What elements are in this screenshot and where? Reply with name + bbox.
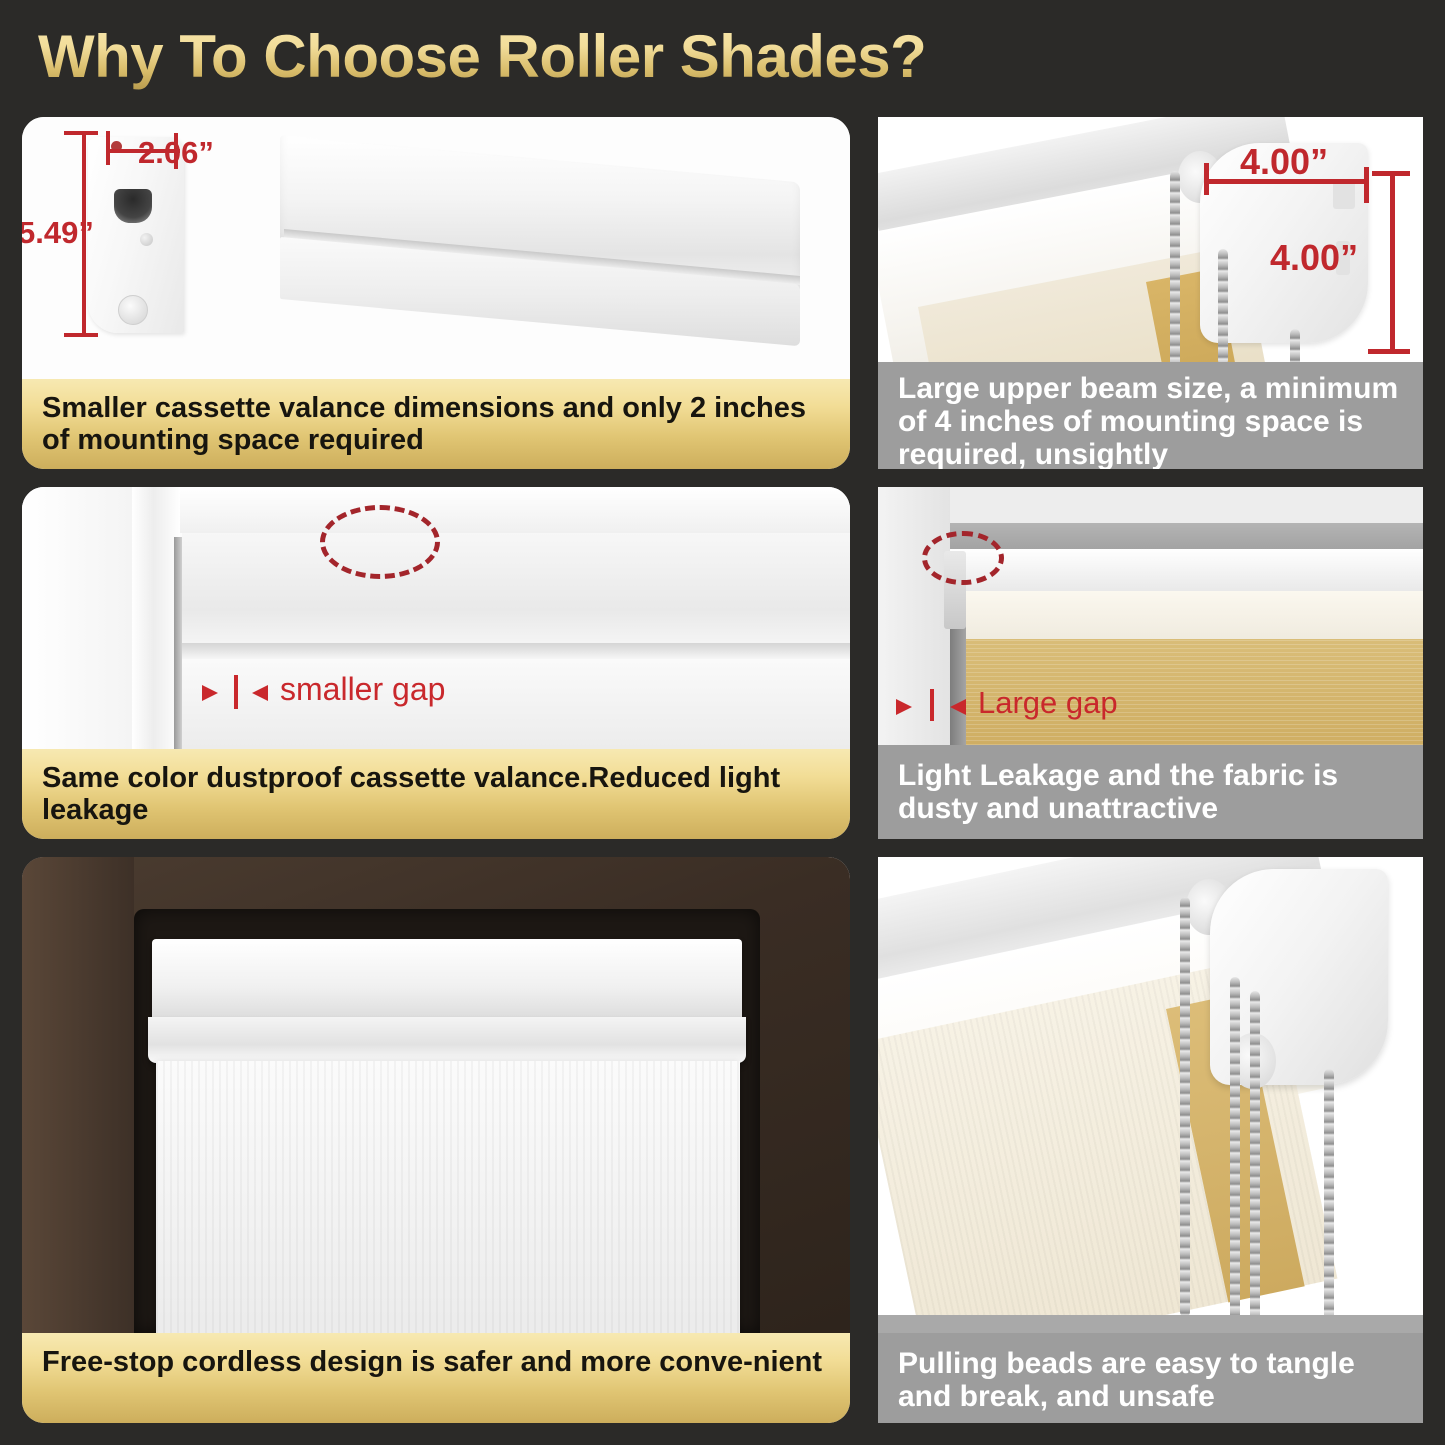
bead-chain [1180,897,1190,1317]
panel-2-caption: Large upper beam size, a minimum of 4 in… [878,362,1423,469]
chain-slot [114,189,152,223]
gap-arrow-right-icon [896,699,912,715]
height-dimension-line [1390,173,1395,353]
panel-4-image: Large gap [878,487,1423,745]
panel-6-image [878,857,1423,1333]
panel-3-caption: Same color dustproof cassette valance.Re… [22,749,850,839]
panel-3-image: smaller gap [22,487,850,749]
panel-5-caption: Free-stop cordless design is safer and m… [22,1333,850,1423]
bead-chain [1324,1069,1334,1321]
panel-cordless-design: Free-stop cordless design is safer and m… [22,857,850,1423]
panel-1-image: 2.06” 5.49” [22,117,850,379]
page-title: Why To Choose Roller Shades? [38,22,926,91]
shade-fabric [156,1061,740,1333]
highlight-ellipse-icon [320,505,440,579]
panel-5-caption-text: Free-stop cordless design is safer and m… [42,1347,830,1379]
highlight-ellipse-icon [922,531,1004,585]
bead-chain [1218,249,1228,362]
gap-callout-label: Large gap [978,685,1118,721]
height-dimension-label: 4.00” [1270,237,1358,279]
panel-pulling-beads: Pulling beads are easy to tangle and bre… [878,857,1423,1423]
panel-6-caption-text: Pulling beads are easy to tangle and bre… [898,1347,1403,1413]
bead-chain [1250,991,1260,1321]
bead-chain [1170,171,1180,362]
screw-icon [118,295,148,325]
gap-marker [930,689,934,721]
panel-1-caption-text: Smaller cassette valance dimensions and … [42,393,830,457]
panel-dustproof-valance: smaller gap Same color dustproof cassett… [22,487,850,839]
panel-2-caption-text: Large upper beam size, a minimum of 4 in… [898,372,1403,469]
height-dimension-label: 5.49” [22,215,94,251]
gap-arrow-left-icon [252,685,268,701]
panel-6-caption: Pulling beads are easy to tangle and bre… [878,1333,1423,1423]
panel-3-caption-text: Same color dustproof cassette valance.Re… [42,763,830,827]
panel-4-caption-text: Light Leakage and the fabric is dusty an… [898,759,1403,825]
width-dimension-label: 2.06” [138,135,214,171]
infographic-root: Why To Choose Roller Shades? 2.06” 5.49” [0,0,1445,1445]
gap-arrow-left-icon [950,699,966,715]
panel-1-caption: Smaller cassette valance dimensions and … [22,379,850,469]
panel-light-leakage: Large gap Light Leakage and the fabric i… [878,487,1423,839]
bead-chain [1230,977,1240,1321]
gap-arrow-right-icon [202,685,218,701]
title-bar: Why To Choose Roller Shades? [0,0,1445,112]
width-dimension-label: 4.00” [1240,141,1328,183]
gap-marker [234,675,238,709]
panel-4-caption: Light Leakage and the fabric is dusty an… [878,745,1423,839]
panel-large-beam: 4.00” 4.00” Large upper beam size, a min… [878,117,1423,469]
panel-smaller-cassette: 2.06” 5.49” Smaller cassette valance dim… [22,117,850,469]
bead-chain [1290,329,1300,362]
panel-5-image [22,857,850,1333]
panel-2-image: 4.00” 4.00” [878,117,1423,362]
gap-callout-label: smaller gap [280,671,445,708]
